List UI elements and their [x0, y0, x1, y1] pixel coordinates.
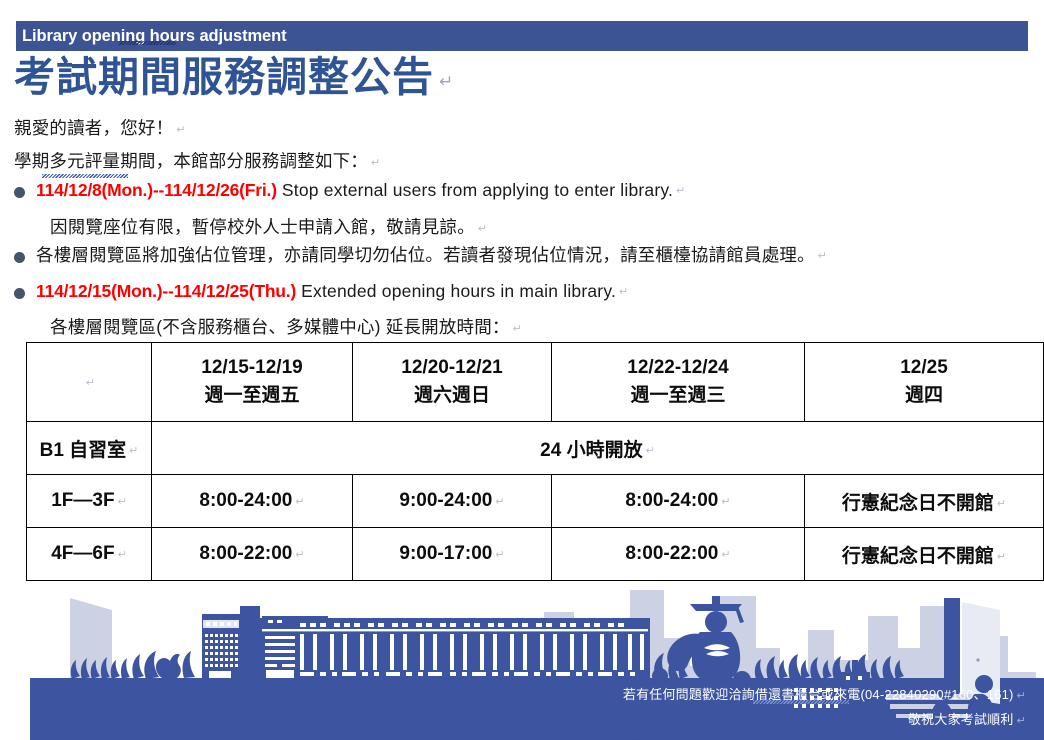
- list-item-label: 114/12/8(Mon.)--114/12/26(Fri.) Stop ext…: [36, 180, 686, 202]
- cell-value: 8:00-22:00: [199, 543, 292, 564]
- list-item-subtext: 各樓層閱覽區(不含服務櫃台、多媒體中心) 延長開放時間：↵: [50, 314, 522, 339]
- header-weekdays: 週一至週五: [152, 382, 352, 410]
- list-item: 各樓層閱覽區將加強佔位管理，亦請同學切勿佔位。若讀者發現佔位情況，請至櫃檯協請館…: [14, 245, 827, 267]
- filled-circle-icon: [14, 288, 25, 299]
- row-label-text: 1F—3F: [51, 490, 114, 511]
- row-label-4f-6f: 4F—6F↵: [27, 528, 152, 581]
- pilcrow-icon: ↵: [83, 377, 95, 389]
- header-weekdays: 週六週日: [353, 382, 551, 410]
- cell-value: 9:00-17:00: [399, 543, 492, 564]
- pilcrow-icon: ↵: [492, 496, 504, 508]
- pilcrow-icon: ↵: [115, 549, 127, 561]
- date-range-highlight: 114/12/15(Mon.)--114/12/25(Thu.): [36, 281, 296, 301]
- row-1f-3f-cell-3: 行憲紀念日不開館↵: [805, 475, 1044, 528]
- list-item-label: 114/12/15(Mon.)--114/12/25(Thu.) Extende…: [36, 281, 628, 303]
- spellcheck-squiggle-icon: [753, 700, 849, 704]
- pilcrow-icon: ↵: [815, 250, 827, 262]
- header-weekdays: 週四: [805, 382, 1043, 410]
- page-title: 考試期間服務調整公告↵: [14, 57, 454, 98]
- list-item-english: 各樓層閱覽區將加強佔位管理，亦請同學切勿佔位。若讀者發現佔位情況，請至櫃檯協請館…: [36, 245, 815, 265]
- pilcrow-icon: ↵: [126, 445, 138, 457]
- table-header-cell-0: 12/15-12/19 週一至週五: [152, 343, 353, 422]
- table-row: B1 自習室↵ 24 小時開放↵: [27, 422, 1044, 475]
- header-weekdays: 週一至週三: [552, 382, 804, 410]
- list-item-english: Stop external users from applying to ent…: [277, 180, 673, 200]
- pilcrow-icon: ↵: [616, 286, 628, 298]
- row-1f-3f-cell-0: 8:00-24:00↵: [152, 475, 353, 528]
- lead-text: 學期多元評量期間，本館部分服務調整如下：: [14, 151, 368, 171]
- date-range-highlight: 114/12/8(Mon.)--114/12/26(Fri.): [36, 180, 277, 200]
- list-item-label: 各樓層閱覽區將加強佔位管理，亦請同學切勿佔位。若讀者發現佔位情況，請至櫃檯協請館…: [36, 245, 827, 267]
- list-item: 114/12/8(Mon.)--114/12/26(Fri.) Stop ext…: [14, 180, 686, 202]
- footer-wishes-line: 敬祝大家考試順利↵: [908, 709, 1026, 728]
- row-1f-3f-cell-1: 9:00-24:00↵: [353, 475, 552, 528]
- list-item-subtext: 因閱覽座位有限，暫停校外人士申請入館，敬請見諒。↵: [50, 214, 487, 239]
- greeting-paragraph: 親愛的讀者，您好！↵: [14, 115, 186, 140]
- cell-value: 9:00-24:00: [399, 490, 492, 511]
- pilcrow-icon: ↵: [292, 496, 304, 508]
- header-date-range: 12/25: [805, 354, 1043, 382]
- greeting-text: 親愛的讀者，您好！: [14, 118, 173, 138]
- footer-contact-line: 若有任何問題歡迎洽詢借還書櫃台或來電(04-22840290#160、161)↵: [623, 684, 1026, 703]
- row-label-b1: B1 自習室↵: [27, 422, 152, 475]
- row-1f-3f-cell-2: 8:00-24:00↵: [552, 475, 805, 528]
- row-4f-6f-cell-3: 行憲紀念日不開館↵: [805, 528, 1044, 581]
- pilcrow-icon: ↵: [292, 549, 304, 561]
- table-header-row: ↵ 12/15-12/19 週一至週五 12/20-12/21 週六週日 12/…: [27, 343, 1044, 422]
- list-item-subtext-label: 各樓層閱覽區(不含服務櫃台、多媒體中心) 延長開放時間：: [50, 317, 510, 337]
- table-header-cell-3: 12/25 週四: [805, 343, 1044, 422]
- table-header-cell-2: 12/22-12/24 週一至週三: [552, 343, 805, 422]
- table-row: 4F—6F↵ 8:00-22:00↵ 9:00-17:00↵ 8:00-22:0…: [27, 528, 1044, 581]
- merged-value-text: 24 小時開放: [540, 440, 642, 461]
- row-label-text: B1 自習室: [40, 440, 127, 461]
- list-item-english: Extended opening hours in main library.: [296, 281, 616, 301]
- lead-paragraph: 學期多元評量期間，本館部分服務調整如下：↵: [14, 148, 380, 173]
- pilcrow-icon: ↵: [368, 157, 380, 169]
- library-building: [202, 606, 650, 680]
- pilcrow-icon: ↵: [1014, 715, 1026, 727]
- pilcrow-icon: ↵: [434, 71, 454, 91]
- announcement-page: Library opening hours adjustment 考試期間服務調…: [0, 0, 1044, 740]
- pilcrow-icon: ↵: [994, 498, 1006, 510]
- pilcrow-icon: ↵: [994, 551, 1006, 563]
- filled-circle-icon: [14, 187, 25, 198]
- row-4f-6f-cell-1: 9:00-17:00↵: [353, 528, 552, 581]
- cell-value: 行憲紀念日不開館: [842, 493, 994, 514]
- cell-value: 8:00-22:00: [625, 543, 718, 564]
- header-date-range: 12/22-12/24: [552, 354, 804, 382]
- header-date-range: 12/20-12/21: [353, 354, 551, 382]
- page-title-text: 考試期間服務調整公告: [14, 54, 434, 100]
- lead-text-wrap: 學期多元評量期間，本館部分服務調整如下：: [14, 151, 368, 171]
- header-date-range: 12/15-12/19: [152, 354, 352, 382]
- pilcrow-icon: ↵: [173, 124, 185, 136]
- filled-circle-icon: [14, 252, 25, 263]
- row-label-1f-3f: 1F—3F↵: [27, 475, 152, 528]
- row-label-text: 4F—6F: [51, 543, 114, 564]
- cell-value: 行憲紀念日不開館: [842, 546, 994, 567]
- pilcrow-icon: ↵: [643, 445, 655, 457]
- opening-hours-table: ↵ 12/15-12/19 週一至週五 12/20-12/21 週六週日 12/…: [26, 342, 1044, 581]
- cell-value: 8:00-24:00: [625, 490, 718, 511]
- row-4f-6f-cell-0: 8:00-22:00↵: [152, 528, 353, 581]
- pilcrow-icon: ↵: [718, 496, 730, 508]
- pilcrow-icon: ↵: [475, 223, 487, 235]
- list-item: 114/12/15(Mon.)--114/12/25(Thu.) Extende…: [14, 281, 628, 303]
- row-b1-merged-cell: 24 小時開放↵: [152, 422, 1044, 475]
- pilcrow-icon: ↵: [115, 496, 127, 508]
- campus-skyline-illustration: [0, 576, 1044, 740]
- pilcrow-icon: ↵: [510, 323, 522, 335]
- spellcheck-squiggle-icon: [42, 174, 128, 178]
- pilcrow-icon: ↵: [1014, 690, 1026, 702]
- list-item-subtext-label: 因閱覽座位有限，暫停校外人士申請入館，敬請見諒。: [50, 217, 475, 237]
- header-banner: Library opening hours adjustment: [16, 21, 1028, 51]
- pilcrow-icon: ↵: [718, 549, 730, 561]
- table-row: 1F—3F↵ 8:00-24:00↵ 9:00-24:00↵ 8:00-24:0…: [27, 475, 1044, 528]
- pilcrow-icon: ↵: [492, 549, 504, 561]
- row-4f-6f-cell-2: 8:00-22:00↵: [552, 528, 805, 581]
- cell-value: 8:00-24:00: [199, 490, 292, 511]
- spellcheck-squiggle-icon: [119, 41, 176, 45]
- pilcrow-icon: ↵: [673, 185, 685, 197]
- table-corner-cell: ↵: [27, 343, 152, 422]
- table-header-cell-1: 12/20-12/21 週六週日: [353, 343, 552, 422]
- footer-wishes-text: 敬祝大家考試順利: [908, 712, 1014, 727]
